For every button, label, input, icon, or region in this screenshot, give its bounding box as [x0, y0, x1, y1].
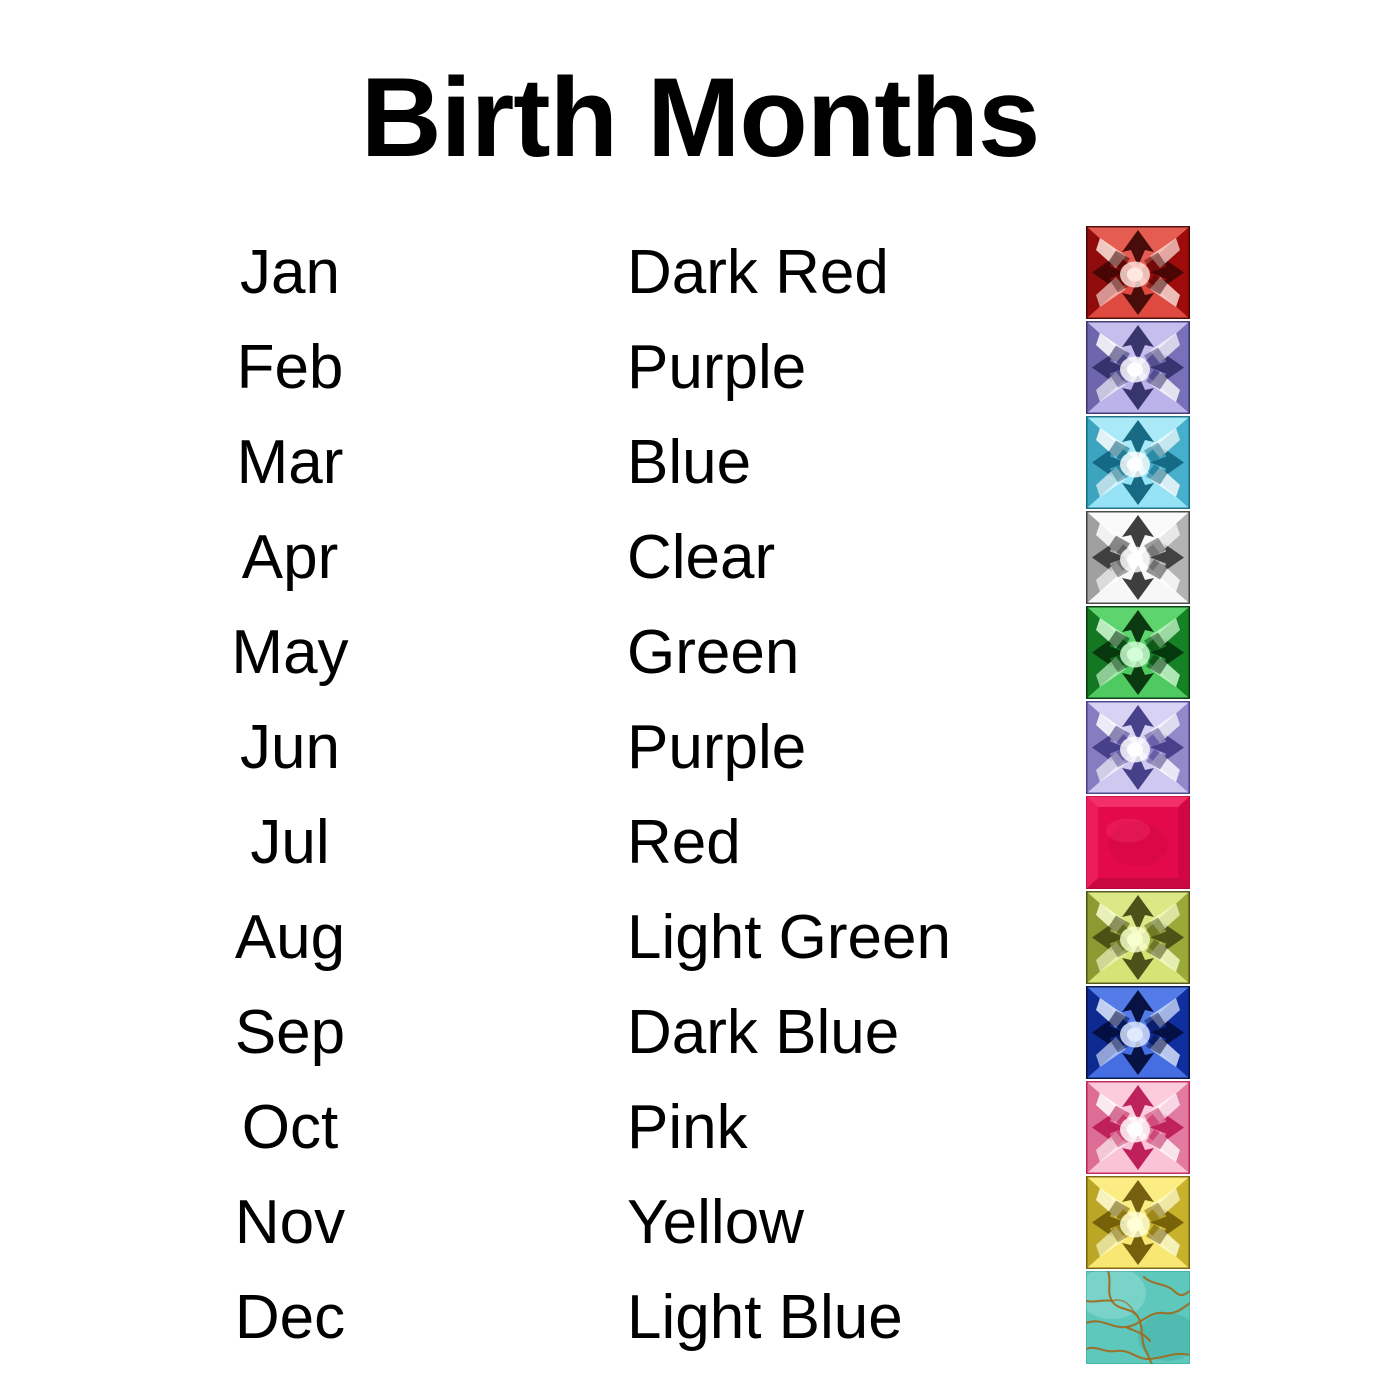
color-name-label: Purple	[627, 700, 806, 795]
month-label: Jul	[180, 795, 400, 890]
color-name-label: Light Blue	[627, 1270, 903, 1365]
table-row: NovYellow	[0, 1175, 1400, 1270]
color-name-label: Pink	[627, 1080, 748, 1175]
month-label: Apr	[180, 510, 400, 605]
table-row: JulRed	[0, 795, 1400, 890]
gemstone-swatch-icon	[1086, 1081, 1190, 1174]
gemstone-swatch-icon	[1086, 511, 1190, 604]
color-name-label: Blue	[627, 415, 751, 510]
color-name-label: Dark Red	[627, 225, 889, 320]
color-name-label: Red	[627, 795, 741, 890]
gemstone-swatch-icon	[1086, 321, 1190, 414]
table-row: MayGreen	[0, 605, 1400, 700]
month-label: Feb	[180, 320, 400, 415]
table-row: JanDark Red	[0, 225, 1400, 320]
month-label: Oct	[180, 1080, 400, 1175]
gemstone-swatch-icon	[1086, 1176, 1190, 1269]
month-label: Dec	[180, 1270, 400, 1365]
color-name-label: Dark Blue	[627, 985, 899, 1080]
month-label: Aug	[180, 890, 400, 985]
month-label: Jun	[180, 700, 400, 795]
table-row: AprClear	[0, 510, 1400, 605]
birth-months-table: JanDark RedFebPurpleMarBlueAprClearMayGr…	[0, 225, 1400, 1365]
gemstone-swatch-icon	[1086, 986, 1190, 1079]
table-row: OctPink	[0, 1080, 1400, 1175]
table-row: DecLight Blue	[0, 1270, 1400, 1365]
month-label: May	[180, 605, 400, 700]
month-label: Jan	[180, 225, 400, 320]
gemstone-swatch-icon	[1086, 1271, 1190, 1364]
month-label: Nov	[180, 1175, 400, 1270]
month-label: Sep	[180, 985, 400, 1080]
table-row: SepDark Blue	[0, 985, 1400, 1080]
table-row: MarBlue	[0, 415, 1400, 510]
color-name-label: Yellow	[627, 1175, 804, 1270]
gemstone-swatch-icon	[1086, 796, 1190, 889]
color-name-label: Green	[627, 605, 799, 700]
birth-months-infographic: Birth Months JanDark RedFebPurpleMarBlue…	[0, 0, 1400, 1400]
page-title: Birth Months	[0, 62, 1400, 174]
gemstone-swatch-icon	[1086, 891, 1190, 984]
table-row: FebPurple	[0, 320, 1400, 415]
color-name-label: Light Green	[627, 890, 951, 985]
gemstone-swatch-icon	[1086, 606, 1190, 699]
color-name-label: Purple	[627, 320, 806, 415]
gemstone-swatch-icon	[1086, 226, 1190, 319]
gemstone-swatch-icon	[1086, 701, 1190, 794]
color-name-label: Clear	[627, 510, 775, 605]
table-row: AugLight Green	[0, 890, 1400, 985]
table-row: JunPurple	[0, 700, 1400, 795]
gemstone-swatch-icon	[1086, 416, 1190, 509]
month-label: Mar	[180, 415, 400, 510]
